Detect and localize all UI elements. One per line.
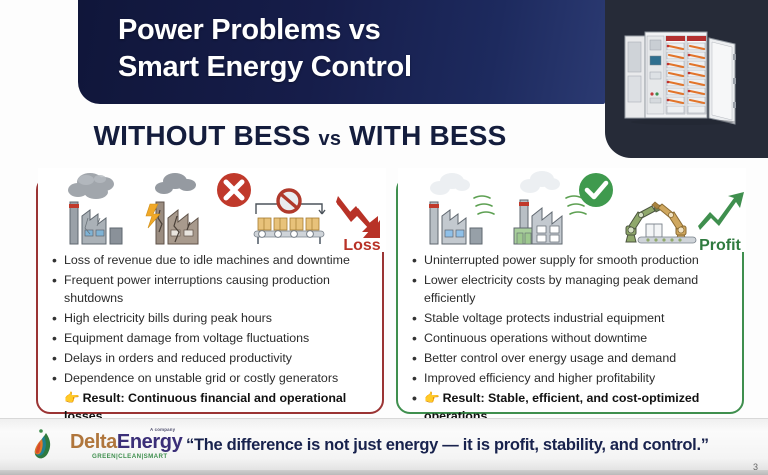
bess-battery-cabinet-image [623, 28, 747, 128]
svg-text:Loss: Loss [343, 237, 380, 252]
subtitle-without: WITHOUT BESS [93, 120, 310, 151]
list-item: Lower electricity costs by managing peak… [408, 272, 734, 307]
list-item: Improved efficiency and higher profitabi… [408, 370, 734, 388]
list-item: High electricity bills during peak hours [48, 310, 374, 328]
logo-energy-text: Energy [117, 431, 182, 453]
title-banner: Power Problems vs Smart Energy Control [78, 0, 605, 104]
footer-quote: “The difference is not just energy — it … [186, 436, 756, 455]
comparison-subtitle: WITHOUT BESS vs WITH BESS [0, 120, 600, 152]
bess-photo-inner [605, 0, 768, 158]
logo-tagline: GREEN|CLEAN|SMART [92, 453, 168, 460]
list-item: Dependence on unstable grid or costly ge… [48, 370, 374, 388]
list-item: Better control over energy usage and dem… [408, 350, 734, 368]
footer-bottom-edge [0, 470, 768, 475]
with-bess-bullet-list: Uninterrupted power supply for smooth pr… [408, 252, 734, 428]
pointing-hand-icon: 👉 [424, 391, 440, 405]
list-item: Loss of revenue due to idle machines and… [48, 252, 374, 270]
without-bess-illustration: Loss [38, 168, 382, 252]
logo-wordmark: DeltaEnergy [70, 431, 182, 454]
subtitle-vs: vs [319, 128, 342, 150]
with-bess-illustration: Profit [398, 168, 742, 252]
page-title: Power Problems vs Smart Energy Control [118, 12, 412, 85]
bess-photo-panel [605, 0, 768, 158]
svg-text:Profit: Profit [699, 237, 741, 252]
list-item: Uninterrupted power supply for smooth pr… [408, 252, 734, 270]
subtitle-with: WITH BESS [349, 120, 506, 151]
logo-topline: A company [150, 427, 175, 432]
slide-root: Power Problems vs Smart Energy Control [0, 0, 768, 475]
slide-footer: DeltaEnergy A company GREEN|CLEAN|SMART … [0, 418, 768, 475]
list-item: Stable voltage protects industrial equip… [408, 310, 734, 328]
list-item: Frequent power interruptions causing pro… [48, 272, 374, 307]
deltaenergy-logo: DeltaEnergy A company GREEN|CLEAN|SMART [30, 427, 180, 467]
pointing-hand-icon: 👉 [64, 391, 80, 405]
logo-delta-text: Delta [70, 431, 117, 453]
without-bess-bullet-list: Loss of revenue due to idle machines and… [48, 252, 374, 428]
list-item: Delays in orders and reduced productivit… [48, 350, 374, 368]
without-bess-panel: Loss Loss of revenue due to idle machine… [36, 176, 384, 414]
list-item: Continuous operations without downtime [408, 330, 734, 348]
list-item: Equipment damage from voltage fluctuatio… [48, 330, 374, 348]
with-bess-panel: Profit Uninterrupted power supply for sm… [396, 176, 744, 414]
